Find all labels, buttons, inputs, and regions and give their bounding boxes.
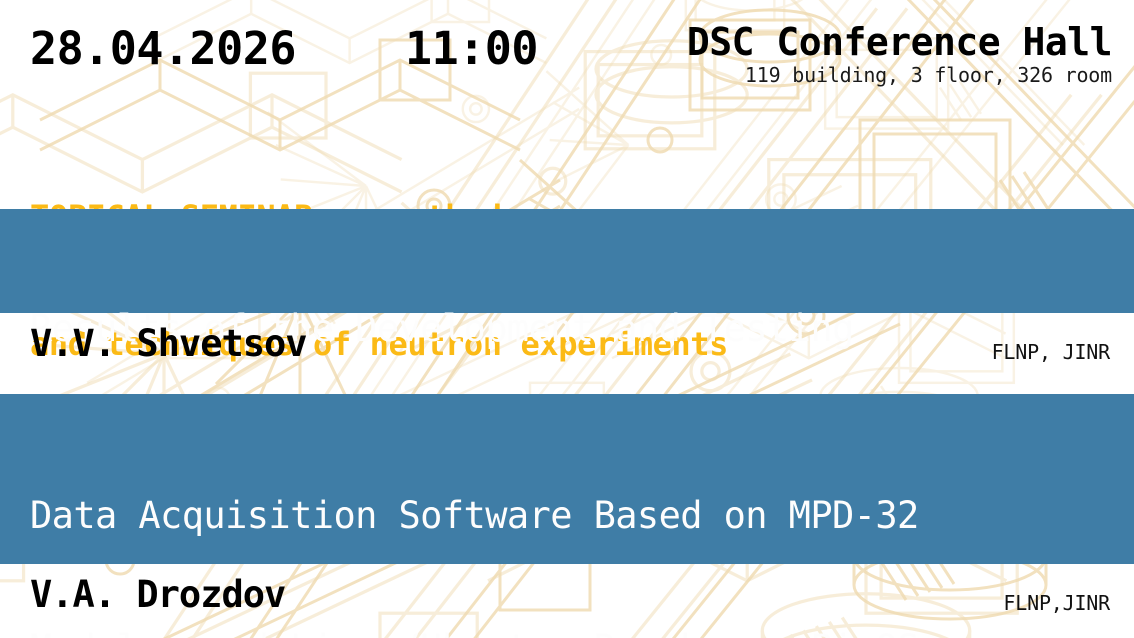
venue-address: 119 building, 3 floor, 326 room [687, 64, 1112, 87]
header-row: 28.04.2026 11:00 DSC Conference Hall 119… [0, 0, 1134, 104]
talk-1-speaker-name: V.V. Shvetsov [30, 324, 307, 365]
talk-2-speaker-affiliation: FLNP,JINR [1003, 591, 1110, 615]
talk-title-banner-2: Data Acquisition Software Based on MPD-3… [0, 394, 1134, 564]
venue-block: DSC Conference Hall 119 building, 3 floo… [687, 22, 1112, 87]
event-date: 28.04.2026 [30, 26, 296, 71]
seminar-announcement-poster: 28.04.2026 11:00 DSC Conference Hall 119… [0, 0, 1134, 638]
talk-2-title-line-1: Data Acquisition Software Based on MPD-3… [30, 494, 1134, 538]
event-time: 11:00 [405, 26, 538, 71]
talk-2-speaker-row: V.A. Drozdov FLNP,JINR [0, 567, 1134, 635]
venue-name: DSC Conference Hall [687, 22, 1112, 62]
talk-1-speaker-row: V.V. Shvetsov FLNP, JINR [0, 316, 1134, 384]
talk-2-speaker-name: V.A. Drozdov [30, 575, 285, 616]
talk-1-speaker-affiliation: FLNP, JINR [992, 340, 1110, 364]
talk-title-banner-1: Results of the Development and Testing o… [0, 209, 1134, 313]
